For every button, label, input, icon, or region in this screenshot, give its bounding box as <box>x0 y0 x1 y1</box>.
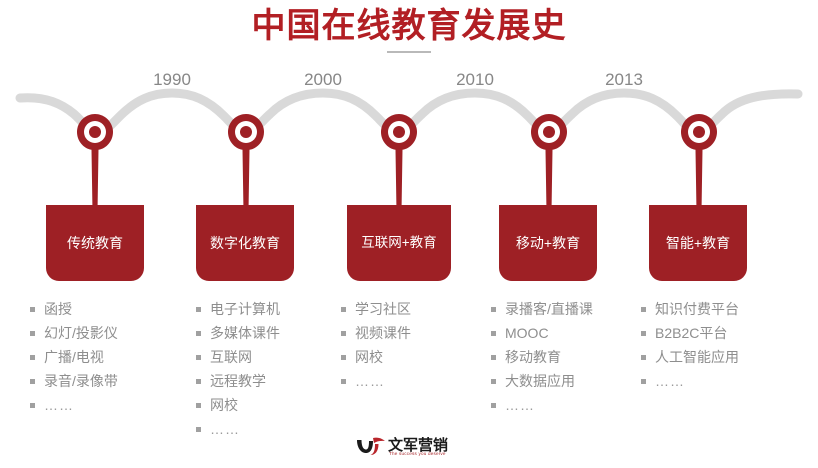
list-item-label: 远程教学 <box>210 372 266 390</box>
stage-box-label: 移动+教育 <box>516 234 580 252</box>
square-bullet-icon <box>196 379 201 384</box>
list-item-label: 函授 <box>44 300 72 318</box>
list-item-label: 移动教育 <box>505 348 561 366</box>
map-pin-marker-5[interactable] <box>681 114 717 218</box>
map-pin-marker-2[interactable] <box>228 114 264 218</box>
stage-box-4[interactable]: 移动+教育 <box>499 205 597 281</box>
square-bullet-icon <box>641 331 646 336</box>
stage-box-label: 互联网+教育 <box>361 234 436 252</box>
square-bullet-icon <box>30 355 35 360</box>
list-item: 函授 <box>30 300 180 318</box>
brand-logo: 文军营销 The success you deserve <box>356 434 464 464</box>
square-bullet-icon <box>491 403 496 408</box>
logo-tagline: The success you deserve <box>389 451 446 456</box>
year-label-2010: 2010 <box>456 70 494 90</box>
list-item: 远程教学 <box>196 372 346 390</box>
square-bullet-icon <box>30 307 35 312</box>
list-item: 网校 <box>341 348 491 366</box>
stage-box-1[interactable]: 传统教育 <box>46 205 144 281</box>
square-bullet-icon <box>196 427 201 432</box>
map-pin-icon <box>531 114 567 218</box>
list-item-label: 多媒体课件 <box>210 324 280 342</box>
map-pin-icon <box>681 114 717 218</box>
list-item-label: 录播客/直播课 <box>505 300 593 318</box>
stage-items-column-2: 电子计算机 多媒体课件 互联网 远程教学 网校 …… <box>196 300 346 444</box>
list-item-label: B2B2C平台 <box>655 324 727 342</box>
square-bullet-icon <box>196 307 201 312</box>
map-pin-icon <box>381 114 417 218</box>
list-item: 电子计算机 <box>196 300 346 318</box>
stage-box-label: 传统教育 <box>67 234 123 252</box>
list-item-label: 网校 <box>210 396 238 414</box>
list-item: 录播客/直播课 <box>491 300 641 318</box>
square-bullet-icon <box>341 379 346 384</box>
square-bullet-icon <box>341 307 346 312</box>
list-item: 知识付费平台 <box>641 300 791 318</box>
year-label-2013: 2013 <box>605 70 643 90</box>
list-item-label: 大数据应用 <box>505 372 575 390</box>
list-item: 移动教育 <box>491 348 641 366</box>
list-item: 人工智能应用 <box>641 348 791 366</box>
list-item: 广播/电视 <box>30 348 180 366</box>
list-item-label: MOOC <box>505 324 549 342</box>
stage-items-column-3: 学习社区 视频课件 网校 …… <box>341 300 491 396</box>
stage-box-label: 智能+教育 <box>666 234 730 252</box>
square-bullet-icon <box>491 379 496 384</box>
list-item: …… <box>641 372 791 390</box>
list-item: MOOC <box>491 324 641 342</box>
title-underline-divider <box>387 51 431 53</box>
square-bullet-icon <box>341 331 346 336</box>
year-label-1990: 1990 <box>153 70 191 90</box>
year-label-2000: 2000 <box>304 70 342 90</box>
list-item: …… <box>196 420 346 438</box>
list-item-label: 广播/电视 <box>44 348 104 366</box>
list-item-label: 电子计算机 <box>210 300 280 318</box>
stage-items-column-5: 知识付费平台 B2B2C平台 人工智能应用 …… <box>641 300 791 396</box>
square-bullet-icon <box>196 331 201 336</box>
list-item-label: 学习社区 <box>355 300 411 318</box>
list-item: B2B2C平台 <box>641 324 791 342</box>
list-item-label: 网校 <box>355 348 383 366</box>
map-pin-marker-3[interactable] <box>381 114 417 218</box>
list-item: 大数据应用 <box>491 372 641 390</box>
stage-box-5[interactable]: 智能+教育 <box>649 205 747 281</box>
list-item: …… <box>341 372 491 390</box>
list-item-label: …… <box>210 420 240 438</box>
list-item: 互联网 <box>196 348 346 366</box>
stage-box-label: 数字化教育 <box>210 234 280 252</box>
square-bullet-icon <box>30 331 35 336</box>
square-bullet-icon <box>196 355 201 360</box>
list-item: 视频课件 <box>341 324 491 342</box>
list-item: 幻灯/投影仪 <box>30 324 180 342</box>
list-item-label: …… <box>44 396 74 414</box>
stage-items-column-1: 函授 幻灯/投影仪 广播/电视 录音/录像带 …… <box>30 300 180 420</box>
square-bullet-icon <box>30 403 35 408</box>
list-item-label: 视频课件 <box>355 324 411 342</box>
square-bullet-icon <box>641 307 646 312</box>
stage-items-column-4: 录播客/直播课 MOOC 移动教育 大数据应用 …… <box>491 300 641 420</box>
map-pin-marker-4[interactable] <box>531 114 567 218</box>
list-item-label: …… <box>655 372 685 390</box>
map-pin-icon <box>77 114 113 218</box>
list-item: 学习社区 <box>341 300 491 318</box>
list-item: …… <box>30 396 180 414</box>
square-bullet-icon <box>491 355 496 360</box>
list-item: 网校 <box>196 396 346 414</box>
square-bullet-icon <box>196 403 201 408</box>
list-item-label: 知识付费平台 <box>655 300 739 318</box>
map-pin-marker-1[interactable] <box>77 114 113 218</box>
uj-swoosh-logo-icon <box>356 436 386 456</box>
square-bullet-icon <box>30 379 35 384</box>
square-bullet-icon <box>641 355 646 360</box>
infographic-canvas: 中国在线教育发展史 1990 2000 2010 2013 <box>0 0 818 468</box>
list-item-label: 人工智能应用 <box>655 348 739 366</box>
stage-box-2[interactable]: 数字化教育 <box>196 205 294 281</box>
list-item-label: 幻灯/投影仪 <box>44 324 118 342</box>
map-pin-icon <box>228 114 264 218</box>
square-bullet-icon <box>491 307 496 312</box>
square-bullet-icon <box>491 331 496 336</box>
square-bullet-icon <box>341 355 346 360</box>
page-title: 中国在线教育发展史 <box>0 4 818 48</box>
list-item-label: 录音/录像带 <box>44 372 118 390</box>
list-item: 多媒体课件 <box>196 324 346 342</box>
list-item-label: …… <box>355 372 385 390</box>
square-bullet-icon <box>641 379 646 384</box>
list-item: 录音/录像带 <box>30 372 180 390</box>
list-item-label: 互联网 <box>210 348 252 366</box>
stage-box-3[interactable]: 互联网+教育 <box>347 205 451 281</box>
list-item: …… <box>491 396 641 414</box>
list-item-label: …… <box>505 396 535 414</box>
